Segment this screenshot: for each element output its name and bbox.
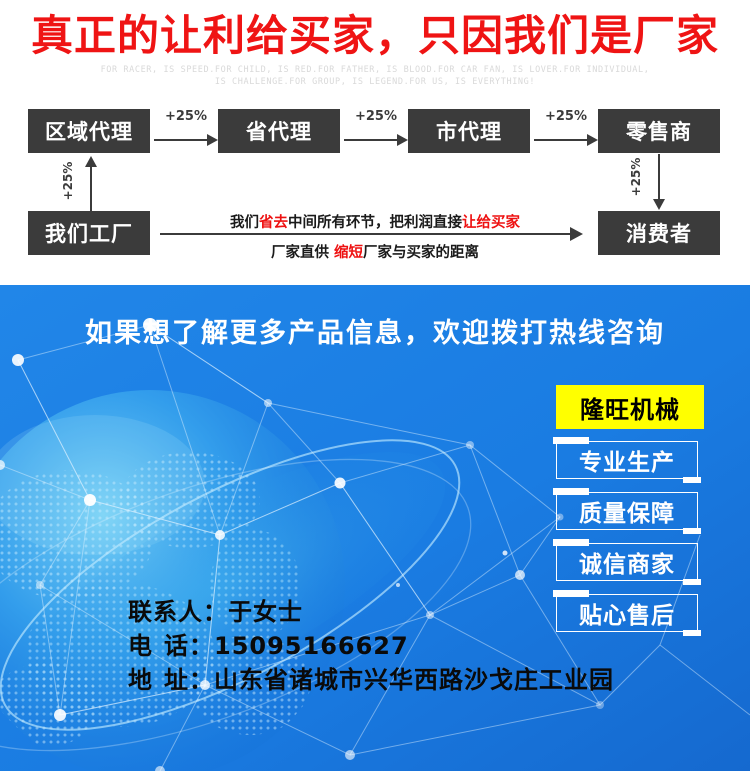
corner-accent-icon (553, 488, 589, 495)
corner-accent-icon (683, 579, 701, 585)
msg1-part2: 中间所有环节，把利润直接 (288, 215, 462, 231)
contact-address-label-char: 地 (128, 663, 164, 697)
arrow-head-icon (570, 227, 583, 241)
markup-label-factory-to-region: +25% (61, 151, 75, 211)
arrow-head-icon (587, 134, 598, 146)
direct-sale-message-line-2: 厂家直供 缩短厂家与买家的距离 (165, 241, 585, 262)
contact-phone-value: 15095166627 (214, 632, 409, 660)
msg2-part2: 厂家与买家的距离 (363, 245, 479, 261)
arrow-shaft-icon (154, 139, 208, 141)
arrow-shaft-icon (344, 139, 398, 141)
arrow-shaft-icon (534, 139, 588, 141)
markup-label-step3: +25% (532, 109, 600, 124)
arrow-shaft-icon (658, 154, 660, 200)
arrow-shaft-icon (90, 166, 92, 212)
top-white-section: 真正的让利给买家，只因我们是厂家 FOR RACER, IS SPEED.FOR… (0, 0, 750, 285)
badge-label: 诚信商家 (579, 545, 675, 579)
flow-arrow-retailer-to-consumer: +25% (598, 154, 720, 212)
corner-accent-icon (553, 437, 589, 444)
arrow-head-icon (207, 134, 218, 146)
contact-info-block: 联系人：于女士 电话：15095166627 地址：山东省诸城市兴华西路沙戈庄工… (128, 595, 688, 697)
banner-headline: 如果想了解更多产品信息，欢迎拨打热线咨询 (0, 317, 750, 351)
distribution-flow-diagram: 区域代理 省代理 市代理 零售商 我们工厂 消费者 +25% +25% +25% (0, 96, 750, 281)
headline-subtitle-english: FOR RACER, IS SPEED.FOR CHILD, IS RED.FO… (0, 64, 750, 88)
brand-badge: 隆旺机械 (556, 385, 704, 429)
flow-arrow-factory-to-consumer (160, 233, 588, 236)
flow-node-region-agent: 区域代理 (28, 109, 150, 153)
contact-person-row: 联系人：于女士 (128, 595, 688, 629)
markup-label-step1: +25% (152, 109, 220, 124)
corner-accent-icon (553, 539, 589, 546)
arrow-head-icon (397, 134, 408, 146)
contact-phone-row: 电话：15095166627 (128, 629, 688, 663)
markup-label-step2: +25% (342, 109, 410, 124)
arrow-head-up-icon (85, 156, 97, 167)
contact-address-label: 址： (164, 663, 214, 697)
contact-person-value: 于女士 (228, 598, 303, 626)
contact-phone-label: 话： (164, 629, 214, 663)
flow-node-retailer: 零售商 (598, 109, 720, 153)
msg1-part1: 我们 (230, 215, 259, 231)
flow-node-our-factory: 我们工厂 (28, 211, 150, 255)
flow-arrow-factory-to-region: +25% (40, 156, 150, 212)
msg2-highlight-1: 缩短 (334, 245, 363, 261)
contact-person-label: 联系人： (128, 595, 228, 629)
badge-label: 质量保障 (579, 494, 675, 528)
contact-address-value: 山东省诸城市兴华西路沙戈庄工业园 (214, 666, 614, 694)
msg2-part1: 厂家直供 (271, 245, 334, 261)
corner-accent-icon (683, 528, 701, 534)
contact-phone-label-char: 电 (128, 629, 164, 663)
msg1-highlight-2: 让给买家 (462, 215, 520, 231)
markup-label-retailer-to-consumer: +25% (629, 147, 643, 207)
contact-blue-banner: 如果想了解更多产品信息，欢迎拨打热线咨询 隆旺机械 专业生产 质量保障 诚信商家 (0, 285, 750, 771)
contact-address-row: 地址：山东省诸城市兴华西路沙戈庄工业园 (128, 663, 688, 697)
arrow-shaft-icon (160, 233, 572, 235)
flow-arrow-city-to-retailer: +25% (532, 111, 600, 157)
badge-item-professional-production: 专业生产 (556, 441, 698, 479)
flow-node-province-agent: 省代理 (218, 109, 340, 153)
flow-node-consumer: 消费者 (598, 211, 720, 255)
page-headline: 真正的让利给买家，只因我们是厂家 (0, 12, 750, 60)
flow-arrow-region-to-province: +25% (152, 111, 220, 157)
badge-item-quality-assurance: 质量保障 (556, 492, 698, 530)
promo-page: 真正的让利给买家，只因我们是厂家 FOR RACER, IS SPEED.FOR… (0, 0, 750, 771)
direct-sale-message-line-1: 我们省去中间所有环节，把利润直接让给买家 (165, 211, 585, 232)
arrow-head-down-icon (653, 199, 665, 210)
corner-accent-icon (683, 477, 701, 483)
flow-arrow-province-to-city: +25% (342, 111, 410, 157)
badge-label: 专业生产 (579, 443, 675, 477)
flow-node-city-agent: 市代理 (408, 109, 530, 153)
msg1-highlight-1: 省去 (259, 215, 288, 231)
badge-item-trustworthy-merchant: 诚信商家 (556, 543, 698, 581)
